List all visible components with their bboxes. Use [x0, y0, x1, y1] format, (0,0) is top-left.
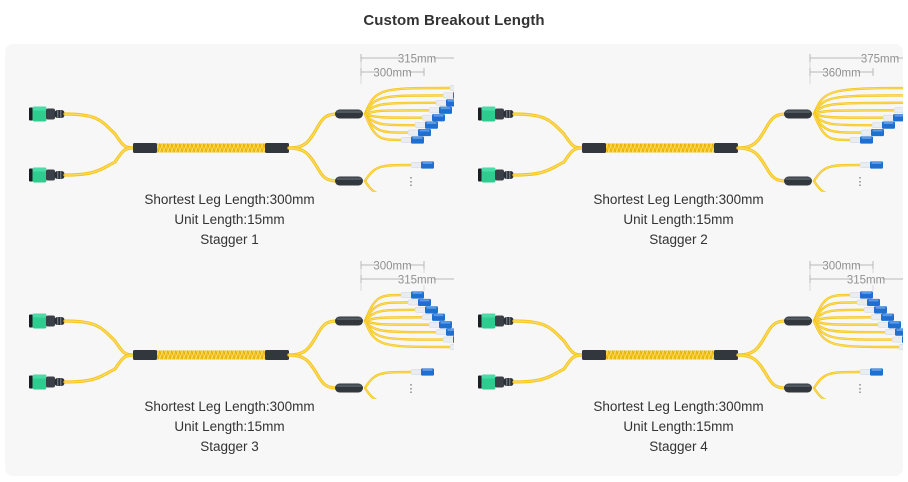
- mpo-highlight: [33, 375, 47, 379]
- lc-connector-icon: [422, 114, 445, 121]
- lc-latch: [872, 369, 882, 371]
- tube-highlight: [337, 111, 362, 114]
- tube-highlight: [786, 385, 811, 388]
- mpo-rib: [60, 317, 61, 325]
- mpo-highlight: [33, 168, 47, 172]
- dim-label: 315mm: [398, 54, 436, 66]
- lc-latch: [420, 129, 430, 131]
- mpo-rib: [60, 110, 61, 118]
- unit-length-label: Unit Length:15mm: [5, 210, 454, 230]
- furcation-tube-icon: [784, 317, 812, 326]
- lc-strain-relief: [415, 307, 426, 312]
- mpo-connector-icon: [29, 168, 65, 183]
- lc-strain-relief: [878, 322, 889, 327]
- mpo-boot: [55, 317, 65, 325]
- mpo-connector-icon: [478, 375, 514, 390]
- lc-strain-relief: [860, 369, 871, 374]
- fiber-core: [738, 355, 786, 388]
- tube-highlight: [337, 318, 362, 321]
- mpo-rib: [509, 110, 510, 118]
- furcation-tube-icon: [335, 384, 363, 393]
- lc-latch: [434, 115, 444, 117]
- mpo-tip: [478, 376, 482, 389]
- lc-connector-icon: [415, 306, 438, 313]
- mpo-boot: [504, 110, 514, 118]
- fiber-strand: [738, 114, 786, 148]
- tube-highlight: [786, 318, 811, 321]
- fiber-strand: [738, 148, 786, 181]
- lc-strain-relief: [443, 337, 454, 342]
- lc-latch: [441, 107, 451, 109]
- fiber-core: [289, 355, 337, 388]
- mpo-highlight: [33, 314, 47, 318]
- trunk-cable-icon: [582, 143, 738, 153]
- mpo-rib: [506, 378, 507, 386]
- furcation-tube-icon: [335, 177, 363, 186]
- mpo-latch: [495, 316, 504, 327]
- fiber-core: [289, 321, 337, 355]
- unit-length-label: Unit Length:15mm: [454, 210, 903, 230]
- lc-connector-icon: [860, 368, 883, 375]
- fiber-core: [738, 148, 786, 181]
- lc-strain-relief: [408, 300, 419, 305]
- dimension-bracket-top: 300mm: [810, 259, 873, 273]
- ellipsis-indicator: ⋮: [855, 176, 866, 188]
- tube-highlight: [786, 178, 811, 181]
- lc-latch: [873, 129, 883, 131]
- mpo-connector-icon: [29, 107, 65, 122]
- lc-strain-relief: [443, 93, 454, 98]
- mpo-latch: [495, 109, 504, 120]
- mpo-boot: [55, 110, 65, 118]
- tube-highlight: [337, 385, 362, 388]
- fiber-strand: [738, 321, 786, 355]
- fiber-strand: [814, 165, 860, 181]
- mpo-rib: [57, 378, 58, 386]
- lc-latch: [884, 122, 894, 124]
- lc-strain-relief: [894, 108, 903, 113]
- lc-latch: [427, 122, 437, 124]
- lc-latch: [869, 299, 879, 301]
- mpo-boot: [55, 378, 65, 386]
- lc-strain-relief: [401, 292, 412, 297]
- mpo-tip: [29, 376, 33, 389]
- dimension-bracket-bottom: 360mm: [810, 66, 873, 80]
- lc-latch: [897, 329, 904, 331]
- trunk-sleeve-right: [265, 350, 289, 360]
- mpo-connector-icon: [29, 375, 65, 390]
- trunk-sleeve-right: [714, 143, 738, 153]
- lc-latch: [423, 369, 433, 371]
- furcation-tube-icon: [335, 317, 363, 326]
- lc-strain-relief: [415, 123, 426, 128]
- lc-connector-icon: [436, 99, 454, 106]
- mpo-latch: [495, 377, 504, 388]
- lc-strain-relief: [861, 130, 872, 135]
- diagram-cell-stagger-1: ⋮315mm300mmShortest Leg Length:300mmUnit…: [5, 44, 454, 260]
- lc-connector-icon: [850, 291, 873, 298]
- lc-strain-relief: [422, 115, 433, 120]
- trunk-cable-icon: [582, 350, 738, 360]
- lc-connector-icon: [894, 107, 903, 114]
- stagger-label: Stagger 3: [5, 437, 454, 457]
- fiber-strand: [289, 114, 337, 148]
- lc-connector-icon: [443, 92, 454, 99]
- lc-strain-relief: [872, 123, 883, 128]
- cable-diagram: ⋮315mm300mm: [5, 44, 454, 192]
- lc-latch: [423, 162, 433, 164]
- trunk-sleeve-left: [582, 143, 606, 153]
- unit-length-label: Unit Length:15mm: [454, 417, 903, 437]
- mpo-rib: [509, 317, 510, 325]
- fiber-strand: [65, 321, 133, 355]
- lc-strain-relief: [422, 315, 433, 320]
- fiber-strand: [738, 355, 786, 388]
- mpo-tip: [478, 108, 482, 121]
- trunk-sleeve-right: [265, 143, 289, 153]
- mpo-connector-icon: [29, 314, 65, 329]
- lc-strain-relief: [892, 337, 903, 342]
- lc-latch: [862, 137, 872, 139]
- lc-strain-relief: [411, 162, 422, 167]
- cable-diagram: ⋮300mm315mm: [5, 251, 454, 399]
- mpo-boot: [504, 378, 514, 386]
- lc-latch: [876, 307, 886, 309]
- cable-diagram: ⋮300mm315mm: [454, 251, 903, 399]
- lc-strain-relief: [429, 322, 440, 327]
- lc-strain-relief: [411, 369, 422, 374]
- fiber-strand: [289, 321, 337, 355]
- fiber-core: [289, 114, 337, 148]
- mpo-tip: [29, 108, 33, 121]
- caption-stagger-4: Shortest Leg Length:300mmUnit Length:15m…: [454, 397, 903, 457]
- diagram-cell-stagger-4: ⋮300mm315mmShortest Leg Length:300mmUnit…: [454, 251, 903, 467]
- fiber-strand: [365, 165, 411, 181]
- lc-latch: [872, 162, 882, 164]
- lc-connector-icon: [411, 161, 434, 168]
- fiber-core: [738, 114, 786, 148]
- lc-latch: [413, 292, 423, 294]
- lc-connector-icon: [429, 107, 452, 114]
- furcation-tube-icon: [784, 177, 812, 186]
- fiber-strand: [365, 372, 411, 388]
- cable-diagram-stagger-4: ⋮300mm315mm: [454, 251, 903, 399]
- unit-length-label: Unit Length:15mm: [5, 417, 454, 437]
- dim-label: 315mm: [847, 275, 885, 287]
- dim-label: 300mm: [822, 261, 860, 273]
- mpo-tip: [29, 169, 33, 182]
- lc-strain-relief: [860, 162, 871, 167]
- lc-strain-relief: [871, 315, 882, 320]
- dim-label: 300mm: [373, 261, 411, 273]
- mpo-rib: [506, 171, 507, 179]
- mpo-boot: [504, 171, 514, 179]
- trunk-sleeve-left: [133, 350, 157, 360]
- trunk-cable-icon: [133, 143, 289, 153]
- mpo-latch: [46, 109, 55, 120]
- lc-connector-icon: [892, 336, 903, 343]
- trunk-sleeve-left: [133, 143, 157, 153]
- mpo-connector-icon: [478, 314, 514, 329]
- dimension-bracket-bottom: 300mm: [361, 66, 424, 80]
- mpo-rib: [506, 317, 507, 325]
- lc-connector-icon: [883, 114, 903, 121]
- cable-diagram-stagger-3: ⋮300mm315mm: [5, 251, 454, 399]
- tube-highlight: [786, 111, 811, 114]
- shortest-leg-length-label: Shortest Leg Length:300mm: [5, 190, 454, 210]
- lc-connector-icon: [864, 306, 887, 313]
- mpo-rib: [60, 378, 61, 386]
- fiber-strand: [289, 148, 337, 181]
- cable-diagram-stagger-1: ⋮315mm300mm: [5, 44, 454, 192]
- lc-connector-icon: [429, 321, 452, 328]
- mpo-rib: [509, 378, 510, 386]
- fiber-strand: [514, 114, 582, 148]
- shortest-leg-length-label: Shortest Leg Length:300mm: [5, 397, 454, 417]
- lc-connector-icon: [878, 321, 901, 328]
- lc-connector-icon: [401, 136, 424, 143]
- fiber-strand: [65, 114, 133, 148]
- dimension-bracket-bottom: 315mm: [810, 273, 903, 287]
- lc-latch: [441, 322, 451, 324]
- mpo-rib: [60, 171, 61, 179]
- dim-label: 375mm: [861, 54, 899, 66]
- caption-stagger-1: Shortest Leg Length:300mmUnit Length:15m…: [5, 190, 454, 250]
- mpo-latch: [46, 316, 55, 327]
- mpo-boot: [55, 171, 65, 179]
- mpo-latch: [46, 377, 55, 388]
- dim-label: 360mm: [822, 68, 860, 80]
- mpo-rib: [57, 171, 58, 179]
- lc-strain-relief: [899, 344, 903, 349]
- mpo-boot: [504, 317, 514, 325]
- dimension-bracket-bottom: 315mm: [361, 273, 454, 287]
- lc-connector-icon: [401, 291, 424, 298]
- lc-latch: [434, 314, 444, 316]
- lc-connector-icon: [885, 329, 903, 336]
- lc-strain-relief: [850, 137, 861, 142]
- stagger-label: Stagger 1: [5, 230, 454, 250]
- lc-connector-icon: [415, 122, 438, 129]
- dimension-bracket-top: 315mm: [361, 52, 454, 66]
- trunk-sleeve-left: [582, 350, 606, 360]
- mpo-tip: [478, 169, 482, 182]
- trunk-sleeve-right: [714, 350, 738, 360]
- mpo-latch: [46, 170, 55, 181]
- ellipsis-indicator: ⋮: [406, 383, 417, 395]
- mpo-highlight: [482, 314, 496, 318]
- ellipsis-indicator: ⋮: [855, 383, 866, 395]
- mpo-latch: [495, 170, 504, 181]
- fiber-strand: [514, 321, 582, 355]
- lc-latch: [427, 307, 437, 309]
- fiber-core: [738, 321, 786, 355]
- shortest-leg-length-label: Shortest Leg Length:300mm: [454, 190, 903, 210]
- mpo-rib: [509, 171, 510, 179]
- dimension-bracket-top: 375mm: [810, 52, 903, 66]
- lc-latch: [883, 314, 893, 316]
- trunk-cable-icon: [133, 350, 289, 360]
- lc-connector-icon: [408, 129, 431, 136]
- lc-connector-icon: [443, 336, 454, 343]
- mpo-rib: [57, 317, 58, 325]
- lc-body: [902, 336, 903, 343]
- furcation-tube-icon: [784, 384, 812, 393]
- dimension-bracket-top: 300mm: [361, 259, 424, 273]
- mpo-highlight: [482, 168, 496, 172]
- lc-connector-icon: [861, 129, 884, 136]
- mpo-tip: [29, 315, 33, 328]
- dim-label: 315mm: [398, 275, 436, 287]
- lc-strain-relief: [429, 108, 440, 113]
- mpo-highlight: [482, 375, 496, 379]
- lc-connector-icon: [872, 122, 895, 129]
- mpo-highlight: [482, 107, 496, 111]
- furcation-tube-icon: [335, 110, 363, 119]
- mpo-highlight: [33, 107, 47, 111]
- fiber-strand: [289, 355, 337, 388]
- stagger-label: Stagger 4: [454, 437, 903, 457]
- ellipsis-indicator: ⋮: [406, 176, 417, 188]
- mpo-connector-icon: [478, 168, 514, 183]
- lc-strain-relief: [850, 292, 861, 297]
- furcation-tube-icon: [784, 110, 812, 119]
- lc-latch: [890, 322, 900, 324]
- lc-strain-relief: [857, 300, 868, 305]
- tube-highlight: [337, 178, 362, 181]
- lc-strain-relief: [436, 330, 447, 335]
- mpo-connector-icon: [478, 107, 514, 122]
- mpo-rib: [57, 110, 58, 118]
- lc-connector-icon: [411, 368, 434, 375]
- diagram-cell-stagger-2: ⋮375mm360mmShortest Leg Length:300mmUnit…: [454, 44, 903, 260]
- lc-connector-icon: [860, 161, 883, 168]
- lc-latch: [895, 115, 904, 117]
- lc-strain-relief: [408, 130, 419, 135]
- lc-connector-icon: [871, 314, 894, 321]
- lc-connector-icon: [899, 343, 903, 350]
- diagram-panel: ⋮315mm300mmShortest Leg Length:300mmUnit…: [5, 44, 903, 476]
- cable-diagram-stagger-2: ⋮375mm360mm: [454, 44, 903, 192]
- fiber-strand: [814, 372, 860, 388]
- lc-strain-relief: [401, 137, 412, 142]
- caption-stagger-2: Shortest Leg Length:300mmUnit Length:15m…: [454, 190, 903, 250]
- lc-strain-relief: [885, 330, 896, 335]
- lc-connector-icon: [857, 299, 880, 306]
- caption-stagger-3: Shortest Leg Length:300mmUnit Length:15m…: [5, 397, 454, 457]
- lc-connector-icon: [436, 329, 454, 336]
- stagger-label: Stagger 2: [454, 230, 903, 250]
- lc-latch: [862, 292, 872, 294]
- shortest-leg-length-label: Shortest Leg Length:300mm: [454, 397, 903, 417]
- lc-strain-relief: [883, 115, 894, 120]
- mpo-rib: [506, 110, 507, 118]
- mpo-tip: [478, 315, 482, 328]
- lc-connector-icon: [850, 136, 873, 143]
- fiber-core: [289, 148, 337, 181]
- lc-latch: [413, 137, 423, 139]
- cable-diagram: ⋮375mm360mm: [454, 44, 903, 192]
- lc-strain-relief: [864, 307, 875, 312]
- lc-connector-icon: [422, 314, 445, 321]
- diagram-cell-stagger-3: ⋮300mm315mmShortest Leg Length:300mmUnit…: [5, 251, 454, 467]
- lc-connector-icon: [408, 299, 431, 306]
- dim-label: 300mm: [373, 68, 411, 80]
- lc-strain-relief: [436, 100, 447, 105]
- lc-latch: [420, 299, 430, 301]
- page-title: Custom Breakout Length: [0, 0, 908, 29]
